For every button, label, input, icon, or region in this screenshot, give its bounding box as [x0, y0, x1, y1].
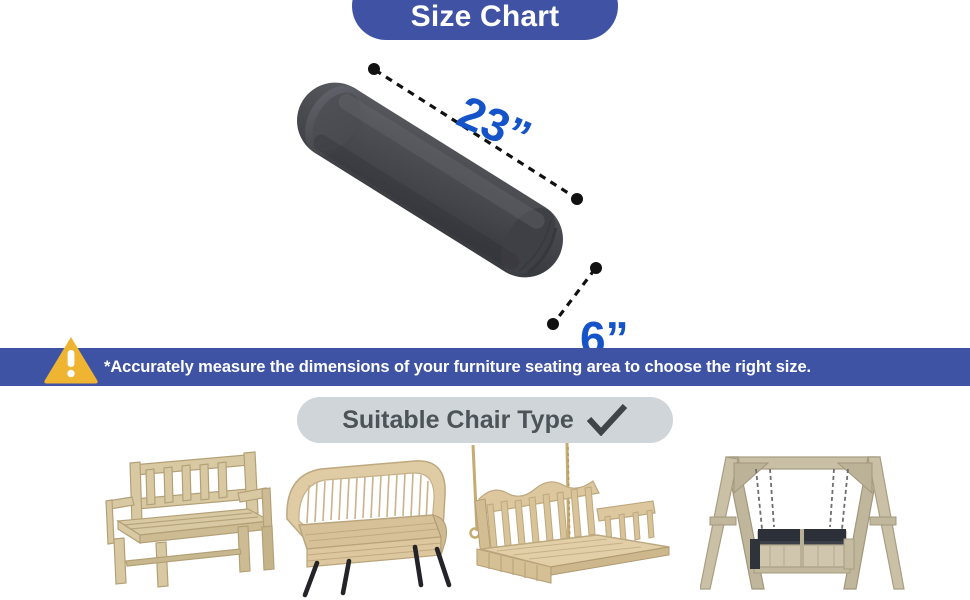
check-icon [586, 404, 628, 436]
rattan-wicker-sofa-image [265, 443, 460, 600]
measurement-warning-banner: *Accurately measure the dimensions of yo… [0, 348, 970, 386]
page-title: Size Chart [411, 2, 560, 36]
suitable-chair-type-label: Suitable Chair Type [342, 408, 574, 433]
bolster-pillow-image [270, 50, 590, 310]
list-item [265, 443, 460, 600]
list-item [700, 443, 905, 600]
size-chart-graphic: Size Chart [0, 0, 970, 600]
warning-message: *Accurately measure the dimensions of yo… [104, 358, 811, 377]
suitable-furniture-list [0, 443, 970, 600]
suitable-chair-type-pill: Suitable Chair Type [297, 397, 673, 443]
list-item [447, 443, 672, 600]
product-illustration: 23” 6” [0, 40, 970, 345]
list-item [98, 443, 288, 600]
warning-triangle-icon [43, 334, 99, 384]
hanging-porch-swing-bed-image [447, 443, 672, 600]
size-chart-title-pill: Size Chart [352, 0, 618, 40]
wooden-garden-bench-image [98, 443, 288, 600]
a-frame-porch-swing-set-image [700, 443, 905, 600]
